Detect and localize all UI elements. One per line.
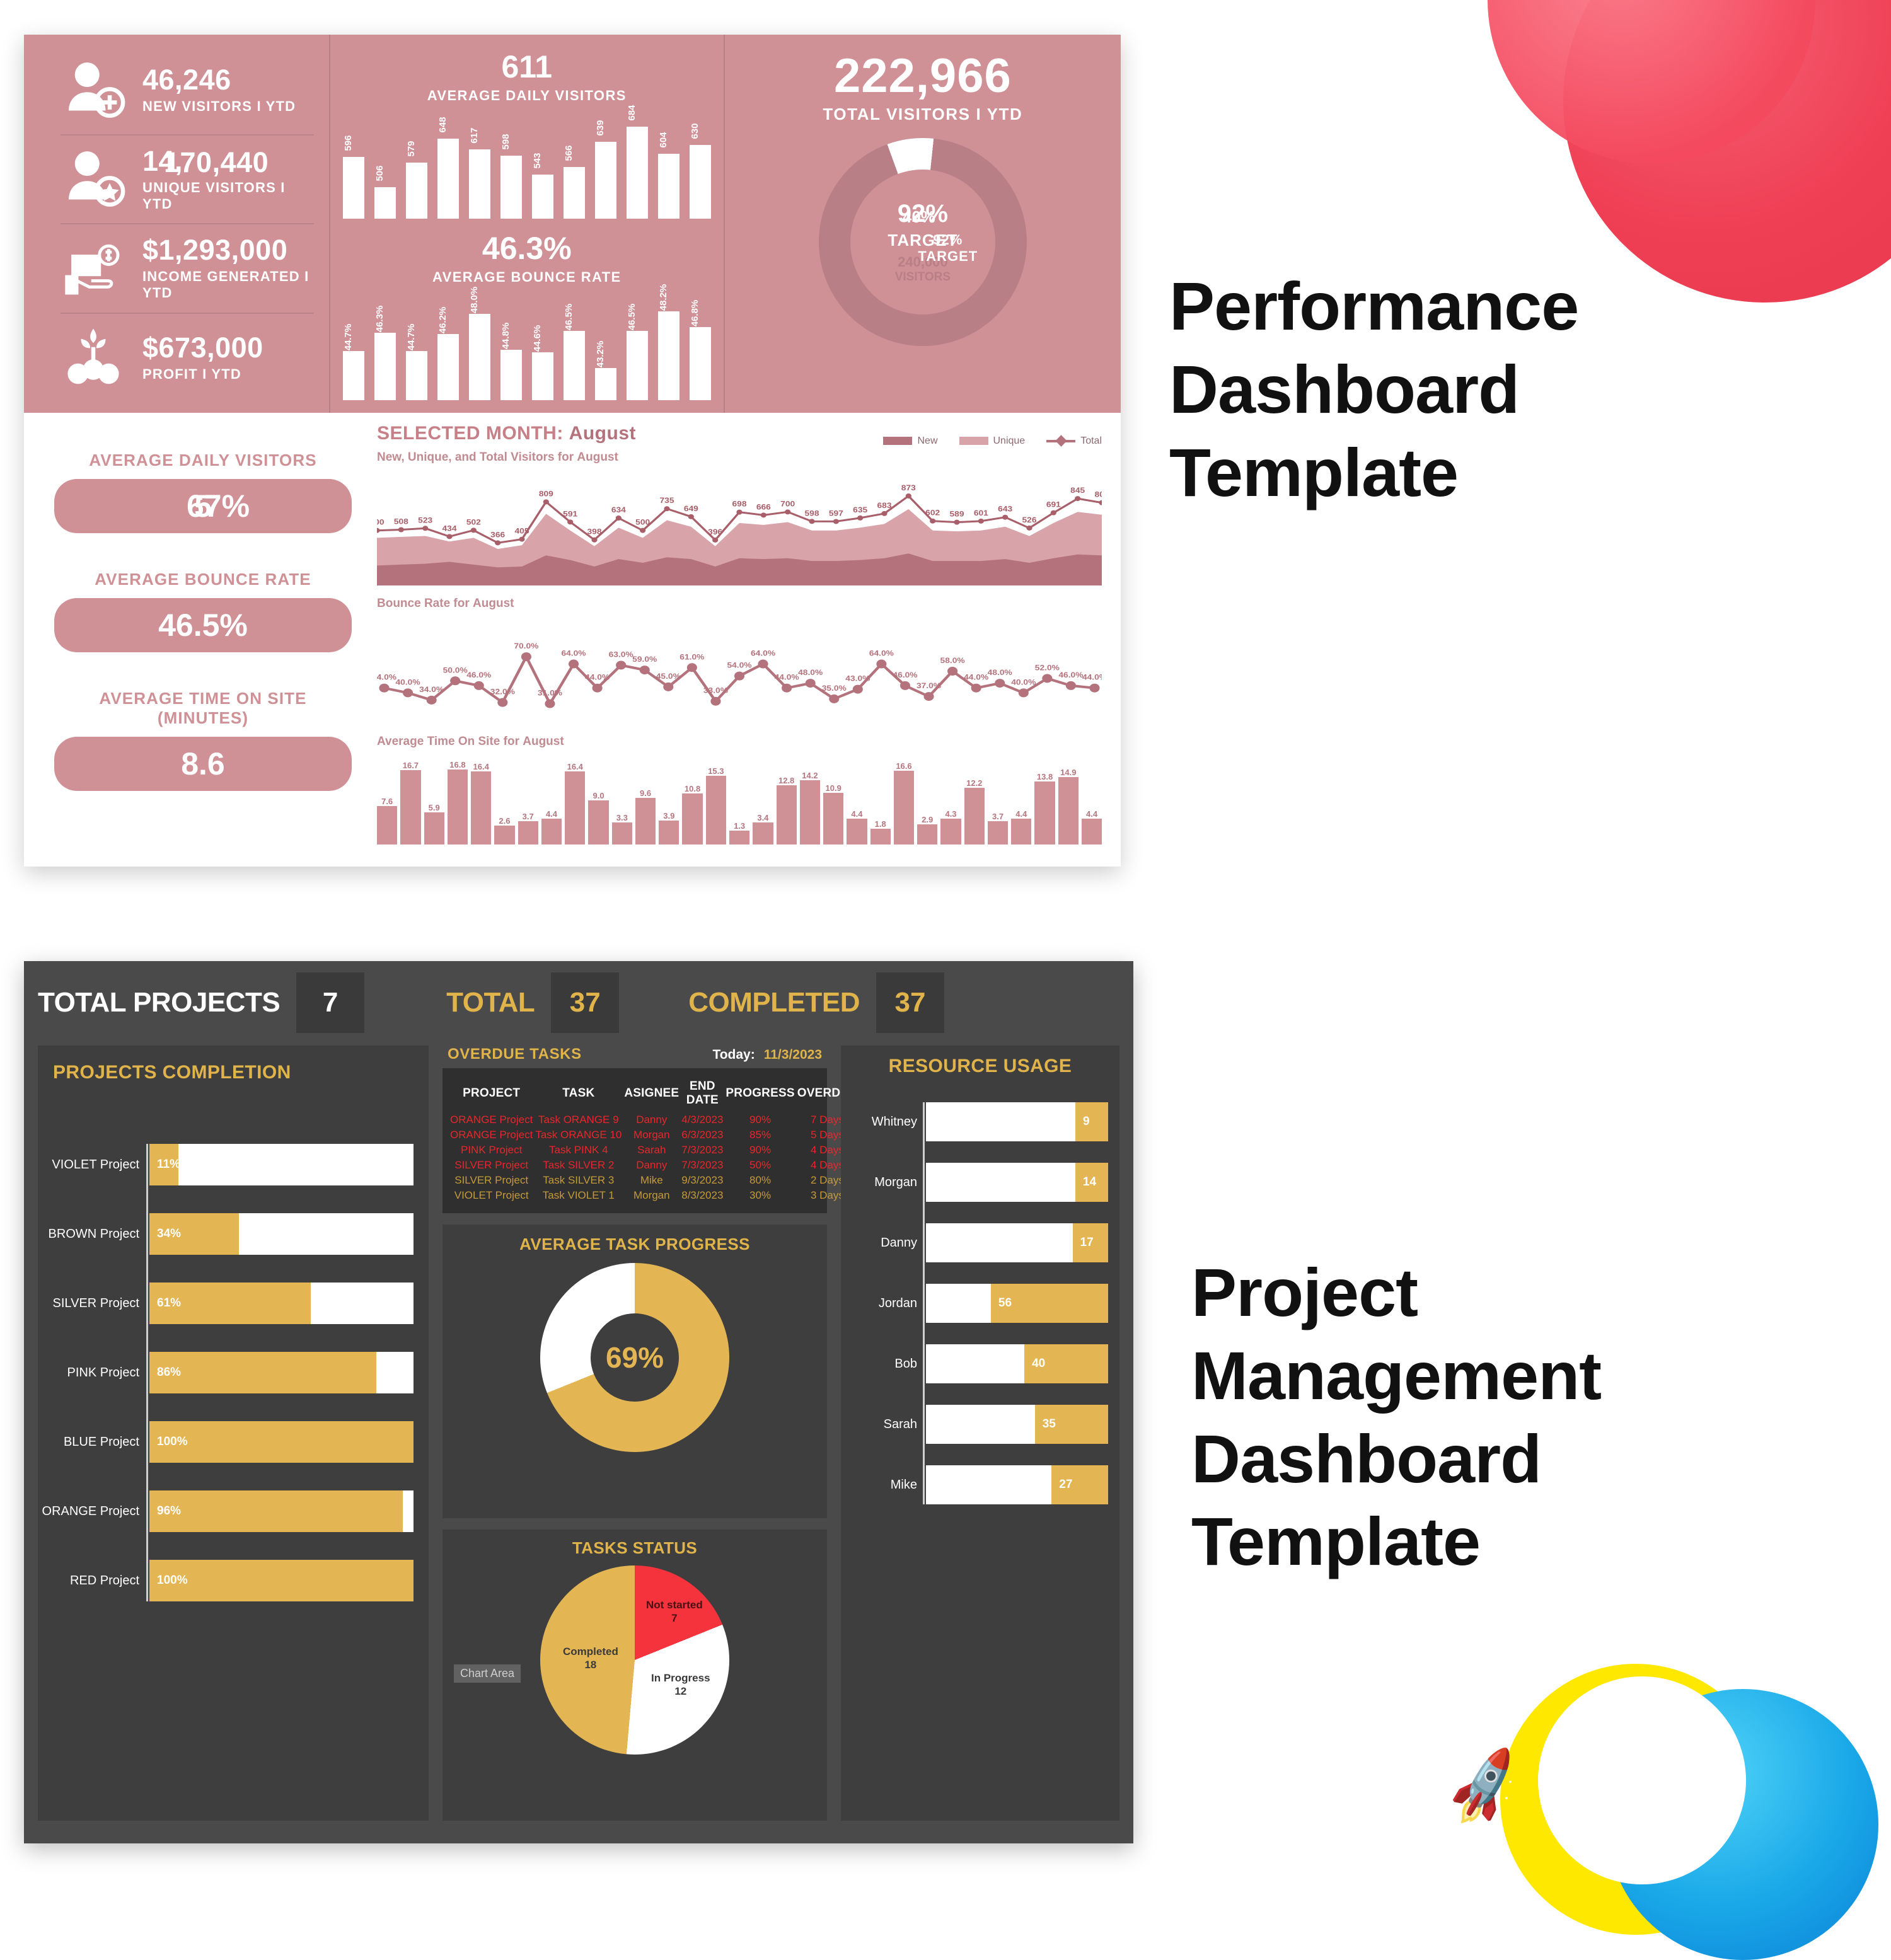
- bounce-chart-title-a: Bounce Rate for: [377, 597, 470, 610]
- mini-bar-value: 684: [627, 105, 637, 120]
- projects-completion-value: 11%: [157, 1158, 180, 1172]
- mini-bar-value: 48.2%: [658, 284, 669, 311]
- time-bar: 14.2: [800, 780, 820, 845]
- pie-slice-value: 12: [674, 1685, 686, 1697]
- time-chart-title-b: August: [523, 735, 564, 748]
- time-bar: 4.4: [1011, 819, 1031, 845]
- avg-daily-visitors-header: 611 AVERAGE DAILY VISITORS: [343, 49, 711, 104]
- data-label: 46.0%: [893, 671, 918, 679]
- data-label: 63.0%: [609, 650, 634, 659]
- mini-bar: 648: [437, 139, 459, 219]
- data-label: 50.0%: [443, 666, 468, 674]
- data-label: 43.0%: [845, 674, 870, 683]
- time-bar: 1.8: [870, 829, 891, 845]
- resource-usage-value: 35: [1043, 1417, 1056, 1431]
- time-bar-value: 3.3: [616, 813, 628, 822]
- data-label: 58.0%: [940, 656, 966, 665]
- data-label: 597: [829, 509, 843, 517]
- time-bar: 12.2: [964, 788, 985, 845]
- data-point: [616, 516, 622, 521]
- data-label: 45.0%: [656, 672, 681, 681]
- resource-usage-row: Mike27: [926, 1465, 1108, 1504]
- resource-usage-label: Bob: [894, 1357, 917, 1371]
- performance-dashboard[interactable]: 46,246 NEW VISITORS I YTD 14,: [24, 35, 1121, 867]
- time-bar-value: 3.7: [523, 812, 534, 821]
- performance-title: Performance Dashboard Template: [1169, 265, 1578, 514]
- overdue-table-row: SILVER ProjectTask SILVER 3Mike9/3/20238…: [449, 1173, 859, 1188]
- data-point: [379, 684, 389, 693]
- mini-bar: 43.2%: [595, 368, 616, 400]
- data-point: [545, 700, 555, 708]
- data-point: [398, 527, 404, 532]
- time-bar-value: 3.9: [663, 811, 674, 821]
- legend-unique: Unique: [959, 435, 1026, 447]
- selected-month-label: SELECTED MONTH:: [377, 423, 564, 444]
- data-label: 591: [563, 509, 577, 518]
- mini-bar: 46.8%: [690, 327, 711, 400]
- projects-completion-row: SILVER Project61%: [149, 1283, 413, 1324]
- data-point: [853, 685, 863, 694]
- overdue-cell: 50%: [724, 1158, 795, 1173]
- kpi-new-visitors: 46,246 NEW VISITORS I YTD: [61, 46, 314, 135]
- kpi-unique-visitors: 14, 170,440 UNIQUE VISITORS I YTD: [61, 135, 314, 225]
- overdue-cell: 7/3/2023: [680, 1158, 724, 1173]
- average-task-progress-donut: 69%: [540, 1263, 729, 1452]
- overdue-cell: VIOLET Project: [449, 1188, 534, 1203]
- overdue-cell: Task ORANGE 10: [534, 1127, 623, 1143]
- overdue-title: OVERDUE TASKS: [448, 1046, 582, 1063]
- projects-completion-fill: 11%: [149, 1144, 178, 1185]
- mini-bar: 639: [595, 142, 616, 219]
- time-bar: 15.3: [706, 776, 726, 845]
- time-bar-value: 16.8: [449, 760, 465, 770]
- header-total-projects-value: 7: [296, 972, 364, 1033]
- kpi-profit-value: $673,000: [142, 333, 263, 362]
- time-bar: 4.3: [940, 819, 961, 845]
- data-point: [593, 684, 603, 693]
- bounce-chart-title-b: August: [473, 597, 514, 610]
- target-donut-chart: 92% 40% TARGET 92% TARGET 240,000 VISITO…: [819, 138, 1027, 346]
- time-bar-value: 10.8: [685, 784, 700, 793]
- resource-usage-label: Sarah: [884, 1417, 917, 1432]
- overdue-column-header: ASIGNEE: [623, 1077, 680, 1112]
- kpi-income-value: $1,293,000: [142, 235, 314, 265]
- time-bar: 4.4: [847, 819, 867, 845]
- kpi-income-label: INCOME GENERATED I YTD: [142, 268, 314, 301]
- overdue-cell: 4/3/2023: [680, 1112, 724, 1127]
- today-label: Today:: [712, 1047, 755, 1062]
- time-bar-value: 15.3: [708, 766, 724, 776]
- money-growth-icon: [61, 325, 126, 390]
- data-point: [1066, 681, 1076, 690]
- projects-completion-label: BLUE Project: [64, 1435, 139, 1450]
- mini-bar-value: 579: [406, 141, 417, 156]
- kpi-unique-visitors-label: UNIQUE VISITORS I YTD: [142, 180, 314, 212]
- projects-completion-fill: 100%: [149, 1421, 413, 1463]
- money-hand-icon: [61, 236, 126, 301]
- resource-usage-label: Mike: [891, 1478, 917, 1492]
- mini-bar-value: 46.2%: [437, 307, 448, 334]
- projects-completion-track: 61%: [149, 1283, 413, 1324]
- time-bar-value: 3.4: [757, 813, 768, 822]
- project-header: TOTAL PROJECTS 7 TOTAL 37 COMPLETED 37: [38, 972, 1119, 1033]
- pie-slice-name: Not started: [646, 1599, 703, 1611]
- resource-usage-row: Sarah35: [926, 1405, 1108, 1444]
- projects-completion-label: SILVER Project: [53, 1296, 139, 1311]
- overdue-cell: Danny: [623, 1112, 680, 1127]
- project-dashboard[interactable]: TOTAL PROJECTS 7 TOTAL 37 COMPLETED 37 P…: [24, 961, 1133, 1843]
- data-label: 37.0%: [917, 681, 942, 690]
- data-label: 31.0%: [538, 688, 563, 697]
- resource-usage-value: 9: [1083, 1115, 1090, 1129]
- resource-usage-label: Whitney: [872, 1115, 917, 1129]
- projects-completion-row: PINK Project86%: [149, 1352, 413, 1393]
- kpi-income: $1,293,000 INCOME GENERATED I YTD: [61, 224, 314, 314]
- metric-2-label: AVERAGE TIME ON SITE (MINUTES): [54, 689, 352, 728]
- overdue-cell: Task ORANGE 9: [534, 1112, 623, 1127]
- visitors-chart-title-b: August: [577, 451, 618, 464]
- projects-completion-track: 96%: [149, 1490, 413, 1532]
- projects-completion-fill: 34%: [149, 1213, 239, 1255]
- mini-bar-value: 48.0%: [469, 287, 480, 314]
- resource-usage-chart: Whitney9Morgan14Danny17Jordan56Bob40Sara…: [923, 1102, 1108, 1504]
- projects-completion-row: VIOLET Project11%: [149, 1144, 413, 1185]
- legend-new: New: [883, 435, 937, 447]
- selected-month-value[interactable]: August: [569, 423, 636, 444]
- data-point: [591, 538, 597, 543]
- overdue-cell: Task SILVER 2: [534, 1158, 623, 1173]
- metric-0-value-overlay: 67%: [187, 488, 250, 524]
- data-point: [833, 519, 839, 524]
- time-bar: 16.4: [565, 771, 585, 845]
- overdue-cell: Danny: [623, 1158, 680, 1173]
- data-label: 601: [974, 509, 988, 517]
- time-bar: 3.7: [988, 821, 1008, 845]
- resource-usage-value: 17: [1080, 1236, 1094, 1250]
- data-label: 643: [998, 505, 1012, 514]
- overdue-column-header: END DATE: [680, 1077, 724, 1112]
- performance-title-line-2: Dashboard: [1169, 348, 1578, 431]
- time-bar: 3.3: [612, 822, 632, 845]
- data-point: [664, 506, 669, 511]
- projects-completion-label: ORANGE Project: [42, 1504, 139, 1519]
- overdue-tasks-card: OVERDUE TASKS Today:11/3/2023 PROJECTTAS…: [442, 1046, 827, 1213]
- overdue-header: OVERDUE TASKS Today:11/3/2023: [442, 1046, 827, 1068]
- data-point: [1051, 510, 1056, 516]
- time-bar-value: 5.9: [429, 803, 440, 812]
- mini-bar-value: 43.2%: [595, 340, 606, 367]
- data-point: [829, 695, 839, 703]
- mini-bar: 44.7%: [406, 351, 427, 400]
- mini-bar: 630: [690, 145, 711, 219]
- projects-completion-value: 34%: [157, 1227, 181, 1241]
- data-label: 64.0%: [561, 649, 586, 657]
- project-body: PROJECTS COMPLETION VIOLET Project11%BRO…: [38, 1046, 1119, 1821]
- mini-bar: 604: [658, 154, 679, 219]
- avg-bounce-rate-value: 46.3%: [343, 230, 711, 267]
- mini-bar-value: 46.3%: [374, 306, 385, 333]
- data-label: 635: [853, 505, 867, 514]
- data-point: [736, 510, 742, 515]
- visitors-area-chart: 5005085234345023664058095913986345007356…: [377, 466, 1102, 585]
- resource-usage-row: Whitney9: [926, 1102, 1108, 1141]
- data-point: [450, 676, 460, 685]
- mini-bar: 543: [532, 175, 553, 219]
- data-point: [1075, 496, 1080, 501]
- tasks-status-pie: Not started7 In Progress12 Completed18: [540, 1565, 729, 1755]
- resource-usage-label: Morgan: [874, 1175, 917, 1190]
- resource-usage-fill: 17: [1073, 1223, 1108, 1262]
- time-bar: 9.0: [588, 800, 608, 845]
- data-label: 398: [587, 527, 601, 536]
- resource-usage-track: 56: [926, 1284, 1108, 1323]
- overdue-table-wrap: PROJECTTASKASIGNEEEND DATEPROGRESSOVERDU…: [442, 1068, 827, 1213]
- target-percent: 92% 40%: [898, 200, 948, 228]
- target-percent-overlay: 40%: [903, 207, 935, 227]
- time-bar: 16.4: [471, 771, 491, 845]
- project-title-line-3: Dashboard: [1191, 1417, 1601, 1501]
- metric-2-value: 8.6: [54, 737, 352, 791]
- mini-bar: 46.3%: [374, 333, 396, 400]
- time-bar-chart: 7.616.75.916.816.42.63.74.416.49.03.39.6…: [377, 750, 1102, 845]
- data-label: 649: [684, 504, 698, 513]
- data-point: [543, 499, 549, 504]
- projects-completion-label: RED Project: [70, 1574, 139, 1588]
- mini-bar: 506: [374, 187, 396, 219]
- pie-slice-value: 7: [671, 1612, 677, 1624]
- time-bar-value: 12.8: [778, 776, 794, 785]
- resource-usage-label: Jordan: [879, 1296, 917, 1311]
- target-donut-center: 92% 40% TARGET 92% TARGET 240,000 VISITO…: [850, 170, 995, 314]
- resource-usage-track: 17: [926, 1223, 1108, 1262]
- chart-svg: 5005085234345023664058095913986345007356…: [377, 466, 1102, 585]
- time-bar: 2.6: [494, 826, 514, 845]
- data-label: 54.0%: [727, 661, 752, 670]
- avg-daily-visitors-bar-chart: 596506579648617598543566639684604630: [343, 112, 711, 219]
- data-point: [857, 516, 863, 521]
- data-label: 873: [901, 483, 916, 492]
- data-point: [930, 519, 935, 524]
- time-bar-value: 2.9: [922, 815, 933, 824]
- data-point: [640, 666, 650, 674]
- overdue-table-row: ORANGE ProjectTask ORANGE 9Danny4/3/2023…: [449, 1112, 859, 1127]
- mini-bar: 48.0%: [469, 314, 490, 400]
- time-bar-value: 3.7: [992, 812, 1003, 821]
- metric-1-label: AVERAGE BOUNCE RATE: [54, 570, 352, 589]
- data-point: [785, 509, 790, 514]
- kpi-new-visitors-value: 46,246: [142, 65, 296, 95]
- data-point: [446, 534, 452, 539]
- data-label: 500: [635, 518, 650, 527]
- data-point: [687, 663, 697, 672]
- target-label: TARGET 92% TARGET: [888, 231, 957, 250]
- time-bar: 3.7: [518, 821, 538, 845]
- time-bar-value: 16.4: [473, 762, 489, 771]
- resource-usage-value: 14: [1083, 1175, 1096, 1189]
- time-bar-value: 4.4: [1015, 809, 1027, 819]
- data-label: 434: [442, 524, 457, 533]
- projects-completion-value: 96%: [157, 1504, 181, 1518]
- data-label: 526: [1022, 516, 1036, 524]
- resource-usage-fill: 27: [1051, 1465, 1108, 1504]
- avg-bounce-rate-bar-chart: 44.7%46.3%44.7%46.2%48.0%44.8%44.6%46.5%…: [343, 293, 711, 400]
- overdue-cell: Sarah: [623, 1143, 680, 1158]
- data-label: 634: [611, 505, 627, 514]
- data-point: [1019, 688, 1029, 697]
- data-point: [427, 696, 437, 705]
- mini-bar: 48.2%: [658, 311, 679, 400]
- pie-slice-value: 18: [584, 1659, 596, 1671]
- data-label: 735: [659, 496, 674, 505]
- overdue-cell: Morgan: [623, 1127, 680, 1143]
- data-label: 44.0%: [377, 673, 397, 682]
- time-bar-value: 1.3: [734, 821, 745, 831]
- resource-usage-fill: 14: [1075, 1163, 1108, 1202]
- data-label: 40.0%: [396, 677, 421, 686]
- mini-bar: 596: [343, 157, 364, 219]
- data-label: 40.0%: [1011, 677, 1036, 686]
- data-label: 602: [925, 509, 940, 517]
- today-block: Today:11/3/2023: [712, 1047, 822, 1063]
- data-point: [663, 683, 673, 691]
- data-point: [474, 681, 484, 690]
- overdue-cell: 90%: [724, 1143, 795, 1158]
- data-point: [1026, 526, 1032, 531]
- mini-bar-value: 617: [469, 128, 480, 144]
- total-visitors-column: 222,966 TOTAL VISITORS I YTD 92% 40% TAR…: [725, 35, 1121, 413]
- projects-completion-track: 86%: [149, 1352, 413, 1393]
- data-point: [758, 660, 768, 669]
- data-label: 523: [418, 516, 432, 524]
- projects-completion-row: BLUE Project100%: [149, 1421, 413, 1463]
- mini-bar-value: 46.8%: [690, 300, 700, 327]
- chart-svg: 44.0%40.0%34.0%50.0%46.0%32.0%70.0%31.0%…: [377, 612, 1102, 729]
- data-label: 46.0%: [466, 671, 492, 679]
- overdue-cell: Mike: [623, 1173, 680, 1188]
- legend-unique-label: Unique: [993, 435, 1026, 446]
- overdue-cell: 85%: [724, 1127, 795, 1143]
- data-label: 44.0%: [775, 673, 800, 682]
- avg-bounce-rate-label: AVERAGE BOUNCE RATE: [343, 269, 711, 285]
- time-bar: 16.7: [400, 770, 420, 845]
- time-chart-title: Average Time On Site for August: [377, 735, 1102, 749]
- projects-completion-fill: 61%: [149, 1283, 311, 1324]
- data-label: 698: [732, 499, 746, 508]
- time-bar: 16.6: [894, 771, 914, 845]
- mini-bar: 44.6%: [532, 352, 553, 400]
- mini-bar: 46.5%: [627, 331, 648, 400]
- bounce-chart-title: Bounce Rate for August: [377, 597, 1102, 611]
- time-bar-value: 9.0: [593, 791, 604, 800]
- data-label: 366: [490, 530, 505, 539]
- overdue-cell: SILVER Project: [449, 1173, 534, 1188]
- legend-total-label: Total: [1080, 435, 1102, 446]
- resource-usage-track: 27: [926, 1465, 1108, 1504]
- metric-0-label: AVERAGE DAILY VISITORS: [54, 451, 352, 470]
- avg-bounce-rate-header: 46.3% AVERAGE BOUNCE RATE: [343, 230, 711, 285]
- time-bar-value: 9.6: [640, 788, 651, 798]
- data-point: [377, 528, 380, 533]
- tasks-status-panel: TASKS STATUS Not started7 In Progress12 …: [442, 1530, 827, 1821]
- metric-0-value: 5 67%: [54, 479, 352, 533]
- overdue-cell: 90%: [724, 1112, 795, 1127]
- data-point: [497, 698, 507, 707]
- data-label: 59.0%: [632, 655, 657, 664]
- metric-1-value: 46.5%: [54, 598, 352, 652]
- data-point: [567, 519, 573, 524]
- data-point: [616, 660, 626, 669]
- kpi-column: 46,246 NEW VISITORS I YTD 14,: [24, 35, 330, 413]
- overdue-table-row: PINK ProjectTask PINK 4Sarah7/3/202390%4…: [449, 1143, 859, 1158]
- data-point: [422, 526, 428, 531]
- data-label: 396: [708, 527, 722, 536]
- data-label: 48.0%: [988, 668, 1013, 677]
- user-plus-icon: [61, 57, 126, 123]
- time-bar: 5.9: [424, 812, 444, 845]
- data-label: 35.0%: [822, 684, 847, 693]
- data-label: 46.0%: [1058, 671, 1084, 679]
- mini-bar: 46.5%: [564, 331, 585, 400]
- mini-bar-value: 604: [658, 132, 669, 148]
- data-label: 666: [756, 502, 771, 511]
- data-point: [761, 512, 766, 517]
- projects-completion-row: RED Project100%: [149, 1560, 413, 1601]
- data-point: [923, 692, 934, 701]
- data-label: 589: [949, 509, 964, 518]
- overdue-table-row: SILVER ProjectTask SILVER 2Danny7/3/2023…: [449, 1158, 859, 1173]
- mini-bar-value: 44.6%: [532, 325, 543, 352]
- mid-metrics-column: 611 AVERAGE DAILY VISITORS 5965065796486…: [330, 35, 725, 413]
- resource-usage-track: 14: [926, 1163, 1108, 1202]
- data-point: [1099, 500, 1102, 505]
- projects-completion-row: BROWN Project34%: [149, 1213, 413, 1255]
- mini-bar-value: 596: [343, 135, 354, 151]
- mini-bar-value: 543: [532, 153, 543, 169]
- mini-bar: 598: [500, 156, 522, 219]
- time-bar-value: 4.4: [1086, 809, 1097, 819]
- data-point: [1042, 674, 1052, 683]
- resource-usage-row: Bob40: [926, 1344, 1108, 1383]
- total-visitors-value: 222,966: [834, 49, 1012, 103]
- overdue-cell: Task SILVER 3: [534, 1173, 623, 1188]
- mini-bar: 46.2%: [437, 334, 459, 400]
- header-total-label: TOTAL: [446, 987, 535, 1018]
- data-point: [906, 493, 911, 499]
- overdue-table-header-row: PROJECTTASKASIGNEEEND DATEPROGRESSOVERDU…: [449, 1077, 859, 1112]
- kpi-unique-visitors-value: 14, 170,440: [142, 146, 314, 176]
- data-point: [734, 672, 744, 681]
- performance-charts-column: SELECTED MONTH: August New Unique Total …: [377, 413, 1121, 867]
- overdue-cell: Task PINK 4: [534, 1143, 623, 1158]
- time-bar: 10.8: [682, 793, 702, 845]
- data-label: 34.0%: [419, 685, 444, 694]
- time-bar: 10.9: [823, 793, 843, 845]
- mini-bar: 579: [406, 163, 427, 219]
- data-label: 48.0%: [798, 668, 823, 677]
- data-point: [640, 528, 645, 533]
- average-task-progress-title: AVERAGE TASK PROGRESS: [449, 1235, 821, 1254]
- time-bar-value: 4.3: [945, 809, 956, 819]
- project-title-line-4: Template: [1191, 1500, 1601, 1583]
- data-point: [971, 684, 981, 693]
- overdue-column-header: PROJECT: [449, 1077, 534, 1112]
- data-point: [521, 652, 531, 661]
- visitors-chart-title-a: New, Unique, and Total Visitors for: [377, 451, 574, 464]
- data-point: [519, 537, 524, 542]
- projects-completion-fill: 86%: [149, 1352, 376, 1393]
- data-label: 809: [539, 489, 553, 498]
- avg-daily-visitors-value: 611: [343, 49, 711, 85]
